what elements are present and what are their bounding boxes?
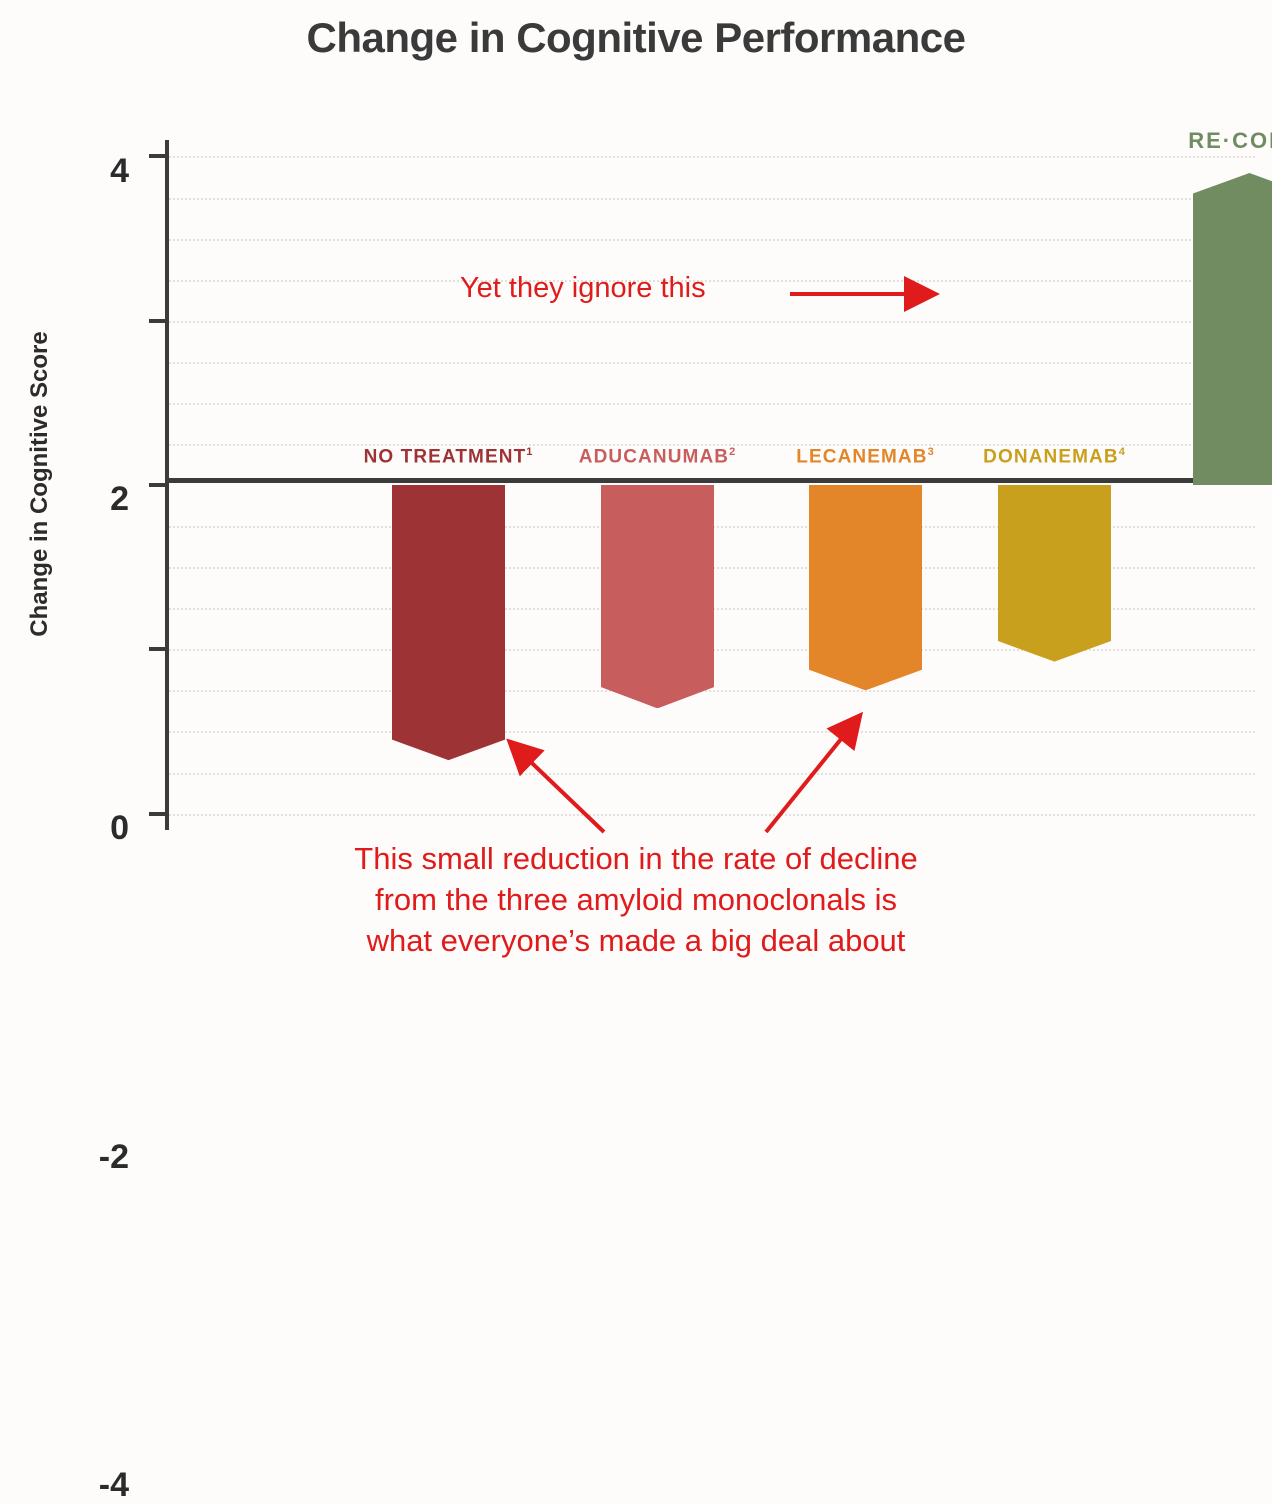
bar-label-re-code: RE·CODE5 (1119, 130, 1272, 152)
plot-area: 420-2-4 NO TREATMENT1ADUCANUMAB2LECANEMA… (165, 140, 1255, 830)
gridline (169, 156, 1255, 158)
bar-label-donanemab: DONANEMAB4 (924, 447, 1184, 466)
gridline (169, 321, 1255, 323)
bar-donanemab[interactable] (998, 485, 1111, 662)
annotation-bottom-line-3: what everyone’s made a big deal about (0, 920, 1272, 961)
bar-re-code[interactable] (1193, 173, 1272, 485)
gridline (169, 362, 1255, 364)
gridline (169, 773, 1255, 775)
annotation-bottom-text: This small reduction in the rate of decl… (0, 838, 1272, 962)
y-tick-mark: -4 (149, 812, 169, 816)
bar-aducanumab[interactable] (601, 485, 714, 708)
gridline (169, 198, 1255, 200)
y-tick-mark: 0 (149, 483, 169, 487)
y-tick-label: -2 (99, 1140, 129, 1174)
page-title: Change in Cognitive Performance (0, 14, 1272, 62)
annotation-bottom-line-2: from the three amyloid monoclonals is (0, 879, 1272, 920)
y-axis-title: Change in Cognitive Score (26, 244, 54, 724)
gridline (169, 731, 1255, 733)
y-tick-mark: -2 (149, 647, 169, 651)
y-tick-label: 2 (110, 482, 129, 516)
gridline (169, 814, 1255, 816)
bar-lecanemab[interactable] (809, 485, 922, 690)
y-tick-mark: 4 (149, 154, 169, 158)
bar-no-treatment[interactable] (392, 485, 505, 760)
gridline (169, 239, 1255, 241)
y-tick-label: 4 (110, 154, 129, 188)
y-tick-mark: 2 (149, 319, 169, 323)
gridline (169, 403, 1255, 405)
chart-root: Change in Cognitive Performance Change i… (0, 0, 1272, 966)
y-tick-label: -4 (99, 1468, 129, 1502)
annotation-bottom-line-1: This small reduction in the rate of decl… (0, 838, 1272, 879)
gridline (169, 280, 1255, 282)
zero-baseline (165, 478, 1255, 483)
annotation-top-text: Yet they ignore this (460, 272, 706, 305)
